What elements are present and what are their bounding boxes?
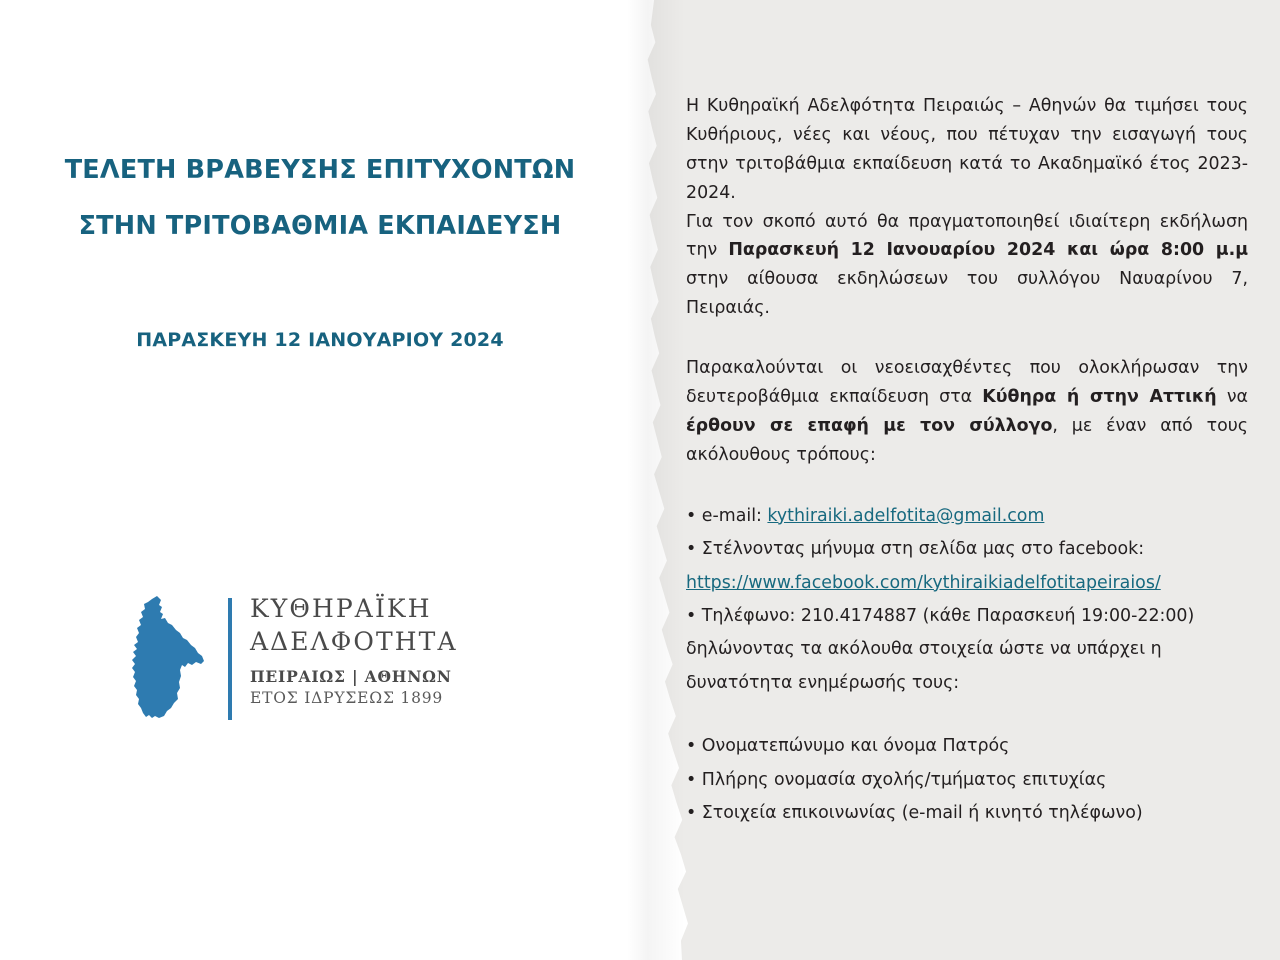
list-item: • Πλήρης ονομασία σχολής/τμήματος επιτυχ… — [686, 764, 1248, 797]
eligibility-locations-bold: Κύθηρα ή στην Αττική — [982, 387, 1216, 407]
organization-logo: ΚΥΘΗΡΑΪΚΗ ΑΔΕΛΦΟΤΗΤΑ ΠΕΙΡΑΙΩΣ | ΑΘΗΝΩΝ Ε… — [124, 592, 544, 732]
facebook-url-link[interactable]: https://www.facebook.com/kythiraikiadelf… — [686, 573, 1161, 593]
event-date-subtitle: ΠΑΡΑΣΚΕΥΗ 12 ΙΑΝΟΥΑΡΙΟΥ 2024 — [0, 329, 640, 351]
instructions-line-2: δυνατότητα ενημέρωσής τους: — [686, 667, 1248, 700]
logo-divider — [228, 598, 232, 720]
email-label: • e-mail: — [686, 506, 767, 526]
kythira-island-map-icon — [124, 592, 220, 724]
paragraph-intro: Η Κυθηραϊκή Αδελφότητα Πειραιώς – Αθηνών… — [686, 92, 1248, 208]
spacer-3 — [686, 700, 1248, 730]
paragraph-eligibility: Παρακαλούνται οι νεοεισαχθέντες που ολοκ… — [686, 354, 1248, 470]
list-item-email: • e-mail: kythiraiki.adelfotita@gmail.co… — [686, 500, 1248, 533]
list-item: • Στοιχεία επικοινωνίας (e-mail ή κινητό… — [686, 797, 1248, 830]
required-info-list: • Ονοματεπώνυμο και όνομα Πατρός • Πλήρη… — [686, 730, 1248, 830]
eligibility-mid: να — [1217, 387, 1248, 407]
event-datetime-bold: Παρασκευή 12 Ιανουαρίου 2024 και ώρα 8:0… — [728, 240, 1248, 260]
logo-name-line-2: ΑΔΕΛΦΟΤΗΤΑ — [250, 625, 458, 658]
logo-name-line-1: ΚΥΘΗΡΑΪΚΗ — [250, 592, 458, 625]
instructions-line-1: δηλώνοντας τα ακόλουθα στοιχεία ώστε να … — [686, 633, 1248, 666]
paragraph-event-details: Για τον σκοπό αυτό θα πραγματοποιηθεί ιδ… — [686, 208, 1248, 324]
list-item: • Ονοματεπώνυμο και όνομα Πατρός — [686, 730, 1248, 763]
left-column: ΤΕΛΕΤΗ ΒΡΑΒΕΥΣΗΣ ΕΠΙΤΥΧΟΝΤΩΝ ΣΤΗΝ ΤΡΙΤΟΒ… — [0, 0, 640, 960]
headline-line-1: ΤΕΛΕΤΗ ΒΡΑΒΕΥΣΗΣ ΕΠΙΤΥΧΟΝΤΩΝ — [65, 155, 576, 185]
list-item-facebook: • Στέλνοντας μήνυμα στη σελίδα μας στο f… — [686, 533, 1248, 566]
instructions-block: δηλώνοντας τα ακόλουθα στοιχεία ώστε να … — [686, 633, 1248, 700]
event-details-post: στην αίθουσα εκδηλώσεων του συλλόγου Ναυ… — [686, 269, 1248, 318]
logo-founding-year: ΕΤΟΣ ΙΔΡΥΣΕΩΣ 1899 — [250, 689, 458, 707]
email-link[interactable]: kythiraiki.adelfotita@gmail.com — [767, 506, 1044, 526]
spacer-2 — [686, 470, 1248, 500]
headline-line-2: ΣΤΗΝ ΤΡΙΤΟΒΑΘΜΙΑ ΕΚΠΑΙΔΕΥΣΗ — [0, 214, 640, 240]
page-title: ΤΕΛΕΤΗ ΒΡΑΒΕΥΣΗΣ ΕΠΙΤΥΧΟΝΤΩΝ ΣΤΗΝ ΤΡΙΤΟΒ… — [0, 158, 640, 239]
logo-chapters: ΠΕΙΡΑΙΩΣ | ΑΘΗΝΩΝ — [250, 667, 458, 686]
contact-methods-list: • e-mail: kythiraiki.adelfotita@gmail.co… — [686, 500, 1248, 567]
facebook-url-row: https://www.facebook.com/kythiraikiadelf… — [686, 567, 1248, 600]
phone-contact-list: • Τηλέφωνο: 210.4174887 (κάθε Παρασκευή … — [686, 600, 1248, 633]
eligibility-action-bold: έρθουν σε επαφή με τον σύλλογο — [686, 416, 1052, 436]
paragraph-intro-text: Η Κυθηραϊκή Αδελφότητα Πειραιώς – Αθηνών… — [686, 96, 1248, 203]
logo-wordmark: ΚΥΘΗΡΑΪΚΗ ΑΔΕΛΦΟΤΗΤΑ ΠΕΙΡΑΙΩΣ | ΑΘΗΝΩΝ Ε… — [250, 592, 458, 707]
poster-canvas: ΤΕΛΕΤΗ ΒΡΑΒΕΥΣΗΣ ΕΠΙΤΥΧΟΝΤΩΝ ΣΤΗΝ ΤΡΙΤΟΒ… — [0, 0, 1280, 960]
announcement-text-column: Η Κυθηραϊκή Αδελφότητα Πειραιώς – Αθηνών… — [686, 92, 1248, 830]
list-item-phone: • Τηλέφωνο: 210.4174887 (κάθε Παρασκευή … — [686, 600, 1248, 633]
spacer-1 — [686, 323, 1248, 354]
